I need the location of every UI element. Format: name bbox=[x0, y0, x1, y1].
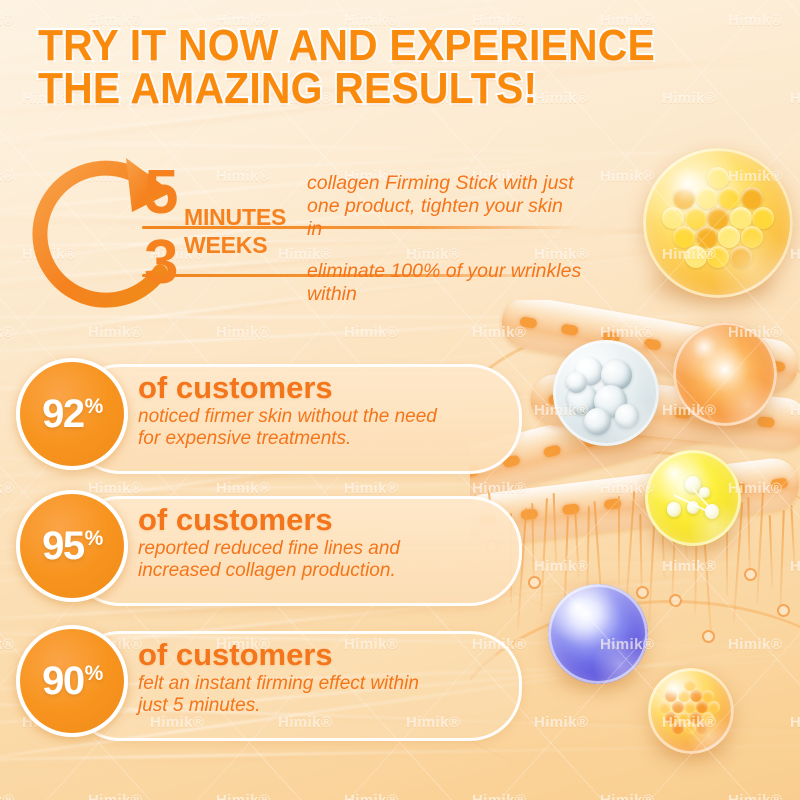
stat-percent-value-90: 90 bbox=[42, 661, 84, 701]
stat-heading-92: of customers bbox=[138, 372, 333, 403]
honeycomb-amber-bubble bbox=[648, 668, 734, 754]
timeline-claim-1: collagen Firming Stick with just one pro… bbox=[307, 172, 582, 241]
timeline-block: 5 MINUTES collagen Firming Stick with ju… bbox=[22, 146, 582, 316]
headline-line-1: TRY IT NOW AND EXPERIENCE bbox=[38, 21, 655, 70]
blue-swirl-bubble bbox=[548, 584, 648, 684]
yellow-molecule-bubble bbox=[645, 450, 741, 546]
stat-percent-90: 90% bbox=[42, 661, 102, 701]
percent-symbol-95: % bbox=[85, 528, 102, 549]
promo-poster: Himik®Himik®Himik®Himik®Himik®Himik®Himi… bbox=[0, 0, 800, 800]
orange-radiant-bubble bbox=[673, 322, 777, 426]
stat-body-95: reported reduced fine lines and increase… bbox=[138, 538, 400, 583]
percent-symbol-92: % bbox=[85, 396, 102, 417]
headline-line-2: THE AMAZING RESULTS! bbox=[38, 67, 703, 110]
stat-body-92: noticed firmer skin without the need for… bbox=[138, 406, 437, 451]
timeline-number-1: 5 bbox=[144, 162, 178, 224]
timeline-claim-2: eliminate 100% of your wrinkles within bbox=[307, 260, 582, 306]
percent-symbol-90: % bbox=[85, 663, 102, 684]
stat-heading-90: of customers bbox=[138, 639, 333, 670]
stat-badge-92: 92% bbox=[16, 358, 128, 470]
stat-percent-92: 92% bbox=[42, 394, 102, 434]
timeline-number-2: 3 bbox=[144, 232, 178, 294]
stat-percent-95: 95% bbox=[42, 526, 102, 566]
stat-percent-value-95: 95 bbox=[42, 526, 84, 566]
page-title: TRY IT NOW AND EXPERIENCE THE AMAZING RE… bbox=[38, 24, 703, 110]
stat-badge-95: 95% bbox=[16, 490, 128, 602]
stat-row-90: 90% of customers felt an instant firming… bbox=[16, 625, 516, 743]
stat-row-95: 95% of customers reported reduced fine l… bbox=[16, 490, 516, 608]
stat-body-90: felt an instant firming effect within ju… bbox=[138, 673, 419, 718]
timeline-unit-1: MINUTES bbox=[184, 204, 286, 231]
stat-percent-value-92: 92 bbox=[42, 394, 84, 434]
stat-row-92: 92% of customers noticed firmer skin wit… bbox=[16, 358, 516, 476]
stat-badge-90: 90% bbox=[16, 625, 128, 737]
timeline-unit-2: WEEKS bbox=[184, 232, 267, 259]
silver-cluster-bubble bbox=[553, 340, 659, 446]
stat-heading-95: of customers bbox=[138, 504, 333, 535]
honeycomb-gold-bubble bbox=[643, 148, 793, 298]
timeline-rows: 5 MINUTES collagen Firming Stick with ju… bbox=[142, 146, 582, 314]
